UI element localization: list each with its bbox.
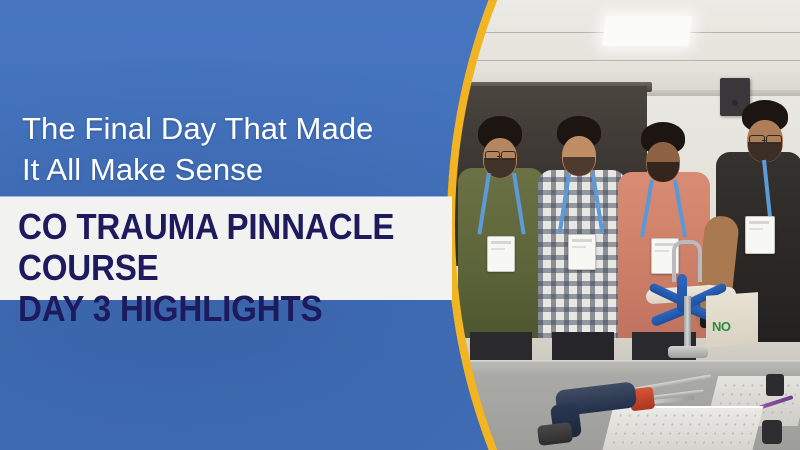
tray-knob <box>766 374 784 396</box>
clamp-icon <box>672 240 702 282</box>
drill-battery <box>537 422 573 446</box>
ceiling-light-panel <box>602 16 692 46</box>
tray-knob <box>762 420 782 444</box>
glasses-icon <box>501 151 516 160</box>
subtitle-text: The Final Day That Made It All Make Sens… <box>22 108 452 190</box>
box-logo-text: NO <box>712 319 731 334</box>
glasses-bridge <box>762 140 767 141</box>
stand-post <box>684 296 691 350</box>
stand-base <box>668 346 708 358</box>
instrument-tray-front <box>603 406 764 450</box>
id-badge <box>745 216 775 254</box>
video-thumbnail: NO The Final Day Th <box>0 0 800 450</box>
tray-perforations <box>609 411 757 445</box>
glasses-icon <box>766 135 782 144</box>
ceiling-seam <box>440 60 800 61</box>
headline-text: CO TRAUMA PINNACLE COURSE DAY 3 HIGHLIGH… <box>18 206 415 329</box>
id-badge <box>487 236 515 272</box>
glasses-bridge <box>497 156 502 157</box>
id-badge <box>568 234 596 270</box>
